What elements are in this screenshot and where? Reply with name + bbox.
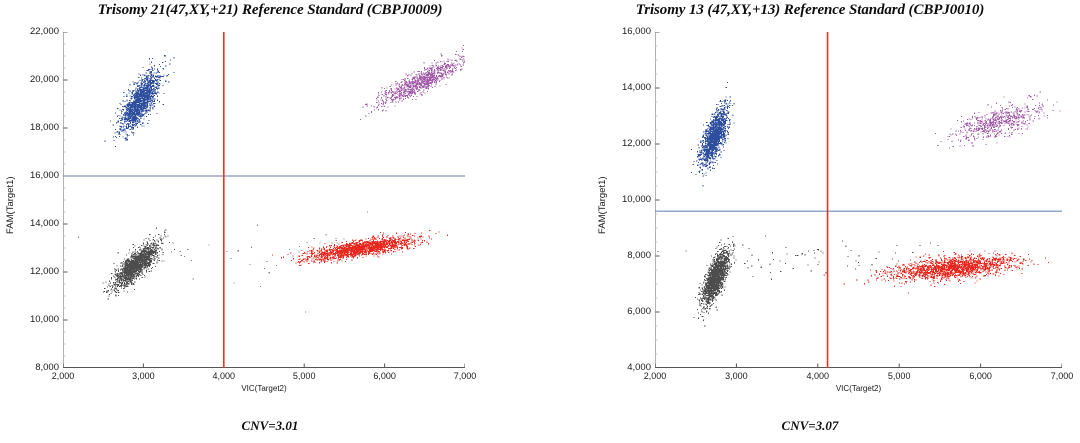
x-axis-tick-label: 6,000 <box>951 371 1011 381</box>
panel-trisomy-21: Trisomy 21(47,XY,+21) Reference Standard… <box>0 0 540 443</box>
panel-trisomy-13: Trisomy 13 (47,XY,+13) Reference Standar… <box>540 0 1080 443</box>
y-axis-tick-label: 14,000 <box>605 82 651 93</box>
scatter-plot-area <box>655 32 1062 368</box>
panel-caption: CNV=3.07 <box>540 418 1080 434</box>
y-axis-tick-label: 8,000 <box>605 250 651 261</box>
y-axis-tick-label: 14,000 <box>13 218 59 229</box>
scatter-canvas <box>655 32 1062 368</box>
y-axis-tick-label: 10,000 <box>13 314 59 325</box>
droplet-cluster <box>824 250 1049 293</box>
y-axis-tick-label: 16,000 <box>13 170 59 181</box>
scatter-canvas <box>63 32 465 368</box>
x-axis-tick-label: 4,000 <box>788 371 848 381</box>
y-axis-tick-label: 12,000 <box>605 138 651 149</box>
droplet-cluster <box>694 236 737 327</box>
droplet-cluster <box>360 45 465 120</box>
droplet-cluster <box>266 230 448 266</box>
x-axis-tick-label: 7,000 <box>1032 371 1080 381</box>
droplet-cluster <box>104 55 174 147</box>
y-axis-title: FAM(Target1) <box>597 176 608 234</box>
y-axis-tick-label: 12,000 <box>13 266 59 277</box>
x-axis-tick-label: 6,000 <box>355 371 415 381</box>
y-axis-tick-label: 18,000 <box>13 122 59 133</box>
panel-caption: CNV=3.01 <box>0 418 540 434</box>
panel-title: Trisomy 21(47,XY,+21) Reference Standard… <box>0 2 540 19</box>
droplet-cluster <box>935 91 1061 148</box>
x-axis-title: VIC(Target2) <box>63 384 465 393</box>
y-axis-tick-label: 22,000 <box>13 26 59 37</box>
x-axis-tick-label: 5,000 <box>869 371 929 381</box>
scatter-plot-area <box>63 32 465 368</box>
ddpcr-figure: Trisomy 21(47,XY,+21) Reference Standard… <box>0 0 1080 443</box>
panel-title: Trisomy 13 (47,XY,+13) Reference Standar… <box>540 2 1080 19</box>
y-axis-tick-label: 10,000 <box>605 194 651 205</box>
x-axis-tick-label: 2,000 <box>625 371 685 381</box>
y-axis-tick-label: 20,000 <box>13 74 59 85</box>
droplet-cluster <box>691 82 735 186</box>
x-axis-tick-label: 3,000 <box>706 371 766 381</box>
x-axis-title: VIC(Target2) <box>655 384 1062 393</box>
x-axis-tick-label: 7,000 <box>435 371 495 381</box>
y-axis-tick-label: 16,000 <box>605 26 651 37</box>
x-axis-tick-label: 4,000 <box>194 371 254 381</box>
x-axis-tick-label: 5,000 <box>274 371 334 381</box>
y-axis-title: FAM(Target1) <box>5 176 16 234</box>
y-axis-tick-label: 6,000 <box>605 306 651 317</box>
x-axis-tick-label: 3,000 <box>113 371 173 381</box>
x-axis-tick-label: 2,000 <box>33 371 93 381</box>
droplet-cluster <box>103 228 176 300</box>
